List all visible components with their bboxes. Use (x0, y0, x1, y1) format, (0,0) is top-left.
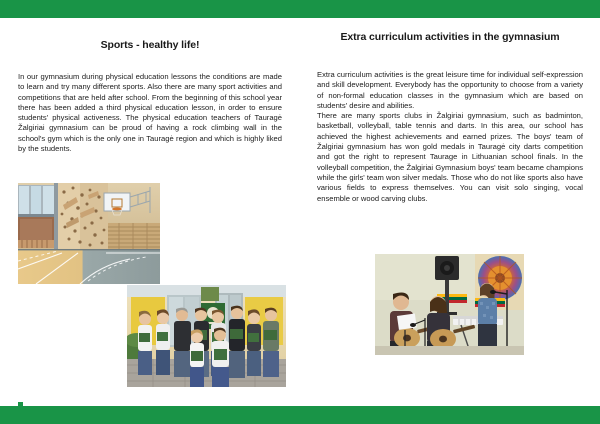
left-column-body-text: In our gymnasium during physical educati… (18, 72, 282, 154)
gym-climbing-wall-image (18, 183, 160, 284)
right-column-body-text: Extra curriculum activities is the great… (317, 70, 583, 204)
left-column: Sports - healthy life! In our gymnasium … (0, 18, 300, 406)
students-group-certificates-photo (127, 285, 286, 387)
right-column-paragraph-1: Extra curriculum activities is the great… (317, 70, 583, 111)
music-performance-photo (375, 254, 524, 355)
two-column-layout: Sports - healthy life! In our gymnasium … (0, 18, 600, 406)
gym-climbing-wall-photo (18, 183, 160, 284)
students-group-image (127, 285, 286, 387)
music-performance-image (375, 254, 524, 355)
right-column-heading: Extra curriculum activities in the gymna… (318, 30, 582, 44)
left-column-heading: Sports - healthy life! (18, 38, 282, 52)
right-column-paragraph-2: There are many sports clubs in Žalgiriai… (317, 111, 583, 204)
top-green-band (0, 0, 600, 18)
bottom-green-band (0, 406, 600, 424)
right-column: Extra curriculum activities in the gymna… (300, 18, 600, 406)
newsletter-page: Sports - healthy life! In our gymnasium … (0, 0, 600, 424)
